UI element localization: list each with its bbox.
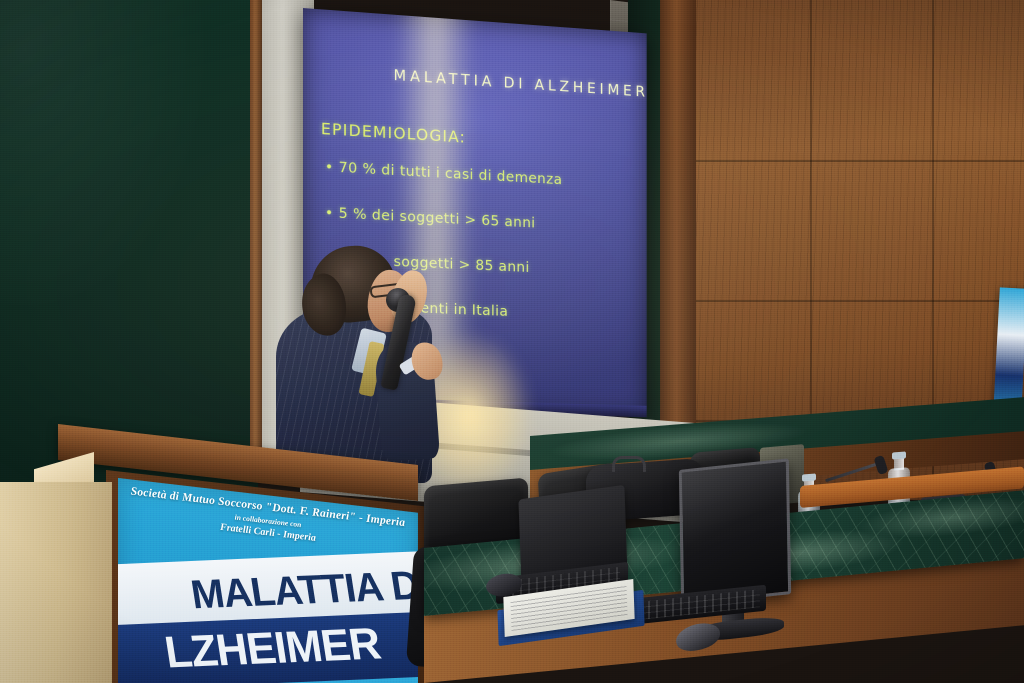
bag-handle [612,456,646,472]
banner-headline-2: LZHEIMER [161,619,383,678]
desktop-monitor[interactable] [679,458,791,605]
conference-photo-scene: MALATTIA DI ALZHEIMER EPIDEMIOLOGIA: • 7… [0,0,1024,683]
left-green-wall [0,0,258,495]
wood-pillar [660,0,696,470]
banner-headline-1: MALATTIA DI [188,563,418,618]
presenter [272,246,447,481]
podium-side-panel [0,482,112,683]
podium-banner: Società di Mutuo Soccorso "Dott. F. Rain… [118,478,418,683]
